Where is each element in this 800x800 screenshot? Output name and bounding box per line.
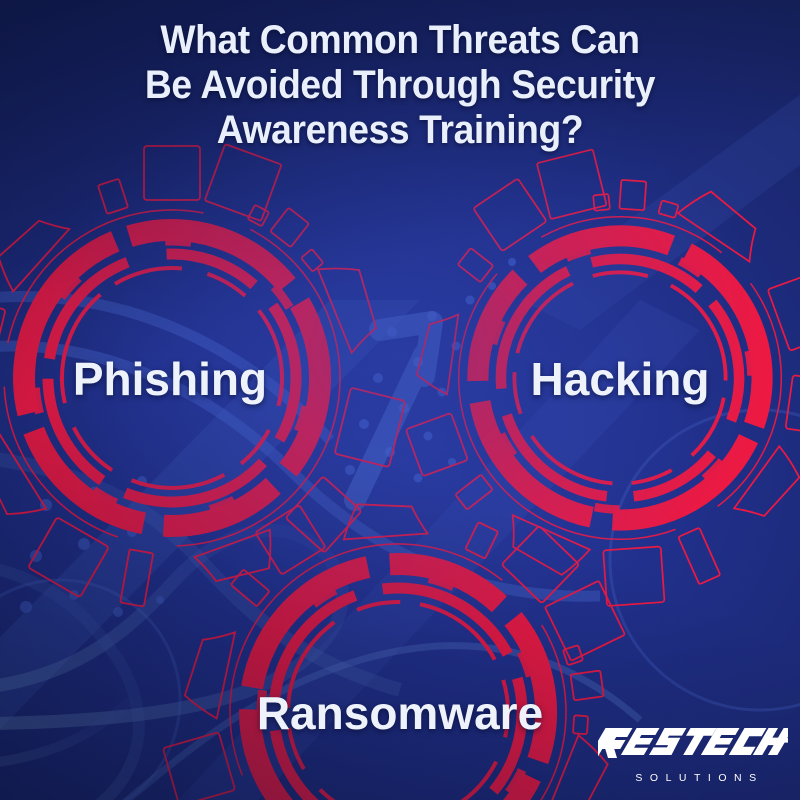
- node-label-ransomware: Ransomware: [200, 686, 600, 740]
- node-label-hacking: Hacking: [455, 352, 785, 406]
- title-line-3: Awareness Training?: [52, 108, 748, 153]
- poster-canvas: What Common Threats Can Be Avoided Throu…: [0, 0, 800, 800]
- logo-tagline: SOLUTIONS: [604, 772, 788, 784]
- node-label-phishing: Phishing: [0, 352, 340, 406]
- title-line-2: Be Avoided Through Security: [52, 63, 748, 108]
- page-title: What Common Threats Can Be Avoided Throu…: [0, 18, 800, 154]
- brand-logo: SOLUTIONS: [598, 722, 788, 784]
- title-line-1: What Common Threats Can: [52, 18, 748, 63]
- restech-wordmark-icon: [598, 722, 788, 762]
